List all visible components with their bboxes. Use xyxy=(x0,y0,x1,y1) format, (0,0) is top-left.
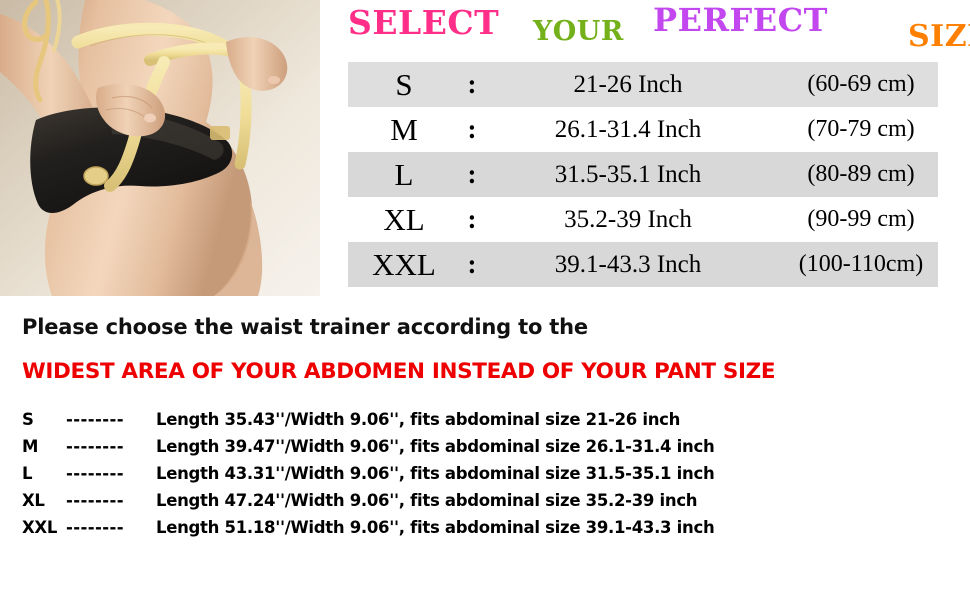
cell-separator: : xyxy=(460,62,484,107)
cell-inch-range: 31.5-35.1 Inch xyxy=(498,152,758,197)
cell-size: XXL xyxy=(348,242,460,287)
table-row: S : 21-26 Inch (60-69 cm) xyxy=(348,62,938,107)
cell-size: M xyxy=(348,107,460,152)
headline-word-size: SIZE xyxy=(908,22,970,52)
table-row: L : 31.5-35.1 Inch (80-89 cm) xyxy=(348,152,938,197)
headline-word-select: SELECT xyxy=(348,6,499,39)
spec-size: S xyxy=(22,406,66,433)
cell-inch-range: 21-26 Inch xyxy=(498,62,758,107)
cell-cm-range: (100-110cm) xyxy=(766,242,956,287)
cell-separator: : xyxy=(460,107,484,152)
waist-measure-illustration xyxy=(0,0,320,296)
table-row: M : 26.1-31.4 Inch (70-79 cm) xyxy=(348,107,938,152)
headline-word-perfect: PERFECT xyxy=(653,4,828,36)
tape-end-fitting xyxy=(84,167,108,185)
cell-cm-range: (70-79 cm) xyxy=(766,107,956,152)
spec-text: Length 43.31''/Width 9.06'', fits abdomi… xyxy=(156,460,714,487)
list-item: XL -------- Length 47.24''/Width 9.06'',… xyxy=(22,487,952,514)
spec-list: S -------- Length 35.43''/Width 9.06'', … xyxy=(22,406,952,541)
spec-dash: -------- xyxy=(66,514,154,541)
table-row: XL : 35.2-39 Inch (90-99 cm) xyxy=(348,197,938,242)
cell-inch-range: 26.1-31.4 Inch xyxy=(498,107,758,152)
cell-size: S xyxy=(348,62,460,107)
shorts-gold-detail xyxy=(210,126,230,140)
note-primary: Please choose the waist trainer accordin… xyxy=(22,315,588,339)
headline-word-your: YOUR xyxy=(533,18,624,45)
cell-inch-range: 35.2-39 Inch xyxy=(498,197,758,242)
spec-size: XXL xyxy=(22,514,66,541)
spec-size: XL xyxy=(22,487,66,514)
spec-dash: -------- xyxy=(66,487,154,514)
cell-separator: : xyxy=(460,152,484,197)
spec-text: Length 39.47''/Width 9.06'', fits abdomi… xyxy=(156,433,714,460)
spec-text: Length 51.18''/Width 9.06'', fits abdomi… xyxy=(156,514,714,541)
cell-cm-range: (90-99 cm) xyxy=(766,197,956,242)
spec-size: M xyxy=(22,433,66,460)
list-item: M -------- Length 39.47''/Width 9.06'', … xyxy=(22,433,952,460)
headline: SELECT YOUR PERFECT SIZE xyxy=(348,2,962,60)
spec-dash: -------- xyxy=(66,406,154,433)
spec-text: Length 35.43''/Width 9.06'', fits abdomi… xyxy=(156,406,680,433)
spec-text: Length 47.24''/Width 9.06'', fits abdomi… xyxy=(156,487,697,514)
spec-dash: -------- xyxy=(66,460,154,487)
cell-cm-range: (60-69 cm) xyxy=(766,62,956,107)
cell-size: L xyxy=(348,152,460,197)
cell-inch-range: 39.1-43.3 Inch xyxy=(498,242,758,287)
spec-dash: -------- xyxy=(66,433,154,460)
cell-separator: : xyxy=(460,197,484,242)
list-item: L -------- Length 43.31''/Width 9.06'', … xyxy=(22,460,952,487)
product-photo xyxy=(0,0,320,296)
list-item: S -------- Length 35.43''/Width 9.06'', … xyxy=(22,406,952,433)
size-chart-table: S : 21-26 Inch (60-69 cm) M : 26.1-31.4 … xyxy=(348,62,938,287)
cell-cm-range: (80-89 cm) xyxy=(766,152,956,197)
cell-size: XL xyxy=(348,197,460,242)
list-item: XXL -------- Length 51.18''/Width 9.06''… xyxy=(22,514,952,541)
spec-size: L xyxy=(22,460,66,487)
table-row: XXL : 39.1-43.3 Inch (100-110cm) xyxy=(348,242,938,287)
cell-separator: : xyxy=(460,242,484,287)
note-emphasis: WIDEST AREA OF YOUR ABDOMEN INSTEAD OF Y… xyxy=(22,359,775,384)
